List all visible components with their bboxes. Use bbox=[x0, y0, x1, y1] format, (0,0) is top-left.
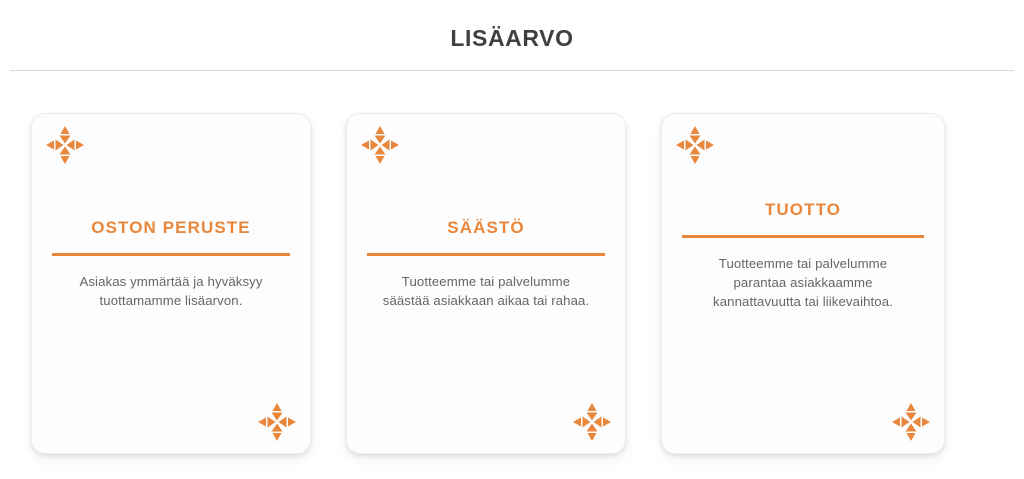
four-point-ornament-icon bbox=[675, 125, 715, 165]
card-divider bbox=[52, 253, 290, 256]
page-title: LISÄARVO bbox=[0, 24, 1024, 52]
card-content: OSTON PERUSTE Asiakas ymmärtää ja hyväks… bbox=[32, 217, 310, 310]
card-title: SÄÄSTÖ bbox=[359, 217, 613, 239]
card-description: Tuotteemme tai palvelumme parantaa asiak… bbox=[674, 254, 932, 311]
card-description: Asiakas ymmärtää ja hyväksyy tuottamamme… bbox=[44, 272, 298, 310]
slide-root: LISÄARVO bbox=[0, 0, 1024, 479]
card-content: TUOTTO Tuotteemme tai palvelumme paranta… bbox=[662, 199, 944, 311]
card-divider bbox=[367, 253, 605, 256]
card-divider bbox=[682, 235, 924, 238]
four-point-ornament-icon bbox=[45, 125, 85, 165]
value-card[interactable]: TUOTTO Tuotteemme tai palvelumme paranta… bbox=[661, 113, 945, 454]
header-divider bbox=[10, 70, 1014, 71]
card-title: OSTON PERUSTE bbox=[44, 217, 298, 239]
four-point-ornament-icon bbox=[257, 402, 297, 442]
slide-header: LISÄARVO bbox=[0, 0, 1024, 71]
four-point-ornament-icon bbox=[360, 125, 400, 165]
card-content: SÄÄSTÖ Tuotteemme tai palvelumme säästää… bbox=[347, 217, 625, 310]
value-card[interactable]: SÄÄSTÖ Tuotteemme tai palvelumme säästää… bbox=[346, 113, 626, 454]
four-point-ornament-icon bbox=[891, 402, 931, 442]
four-point-ornament-icon bbox=[572, 402, 612, 442]
value-card[interactable]: OSTON PERUSTE Asiakas ymmärtää ja hyväks… bbox=[31, 113, 311, 454]
card-title: TUOTTO bbox=[674, 199, 932, 221]
card-row: OSTON PERUSTE Asiakas ymmärtää ja hyväks… bbox=[0, 113, 1024, 454]
card-description: Tuotteemme tai palvelumme säästää asiakk… bbox=[359, 272, 613, 310]
